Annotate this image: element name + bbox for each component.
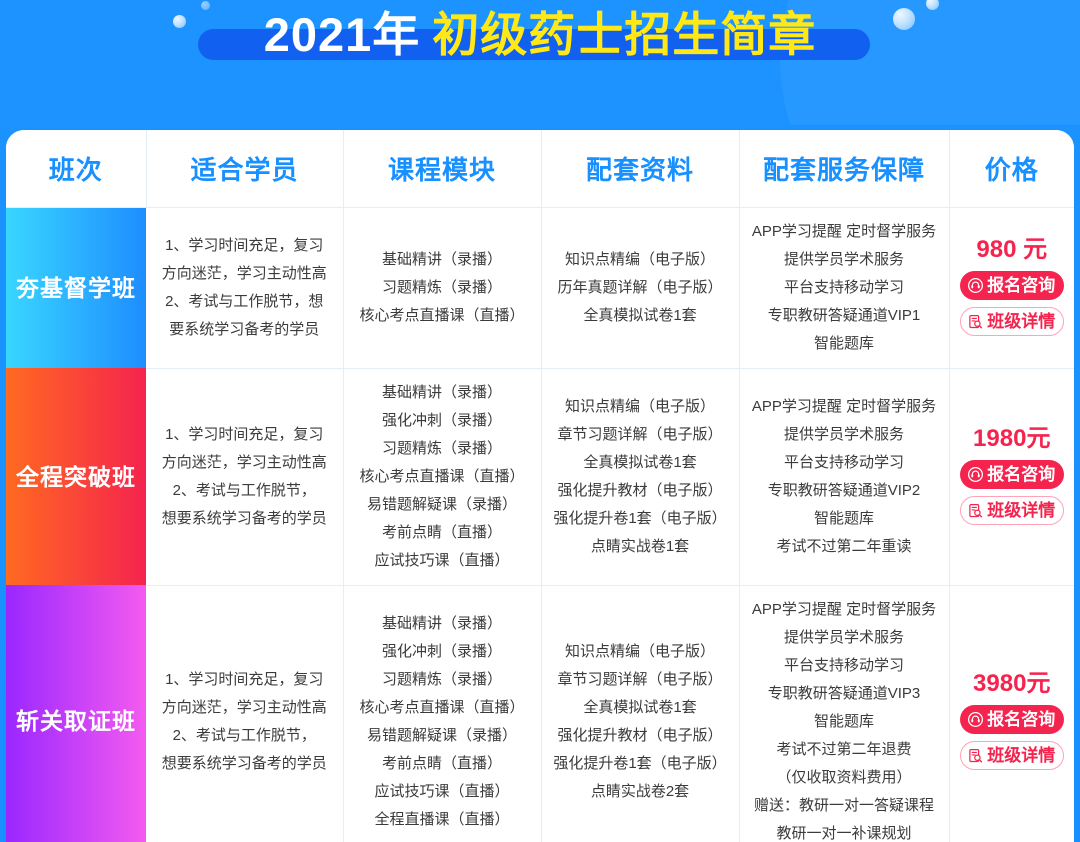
text-line: 习题精炼（录播） xyxy=(350,274,535,302)
title-main: 初级药士招生简章 xyxy=(432,8,816,61)
text-line: 应试技巧课（直播） xyxy=(350,547,535,575)
text-line: 方向迷茫，学习主动性高 xyxy=(152,449,337,477)
text-line: 方向迷茫，学习主动性高 xyxy=(152,694,337,722)
text-line: 平台支持移动学习 xyxy=(746,274,943,302)
price-value: 980 元 xyxy=(954,236,1071,264)
table-row: 夯基督学班 1、学习时间充足，复习 方向迷茫，学习主动性高 2、考试与工作脱节，… xyxy=(6,207,1074,368)
price-cell: 980 元 报名咨询 xyxy=(949,207,1074,368)
column-header-materials: 配套资料 xyxy=(541,130,739,207)
text-line: 历年真题详解（电子版） xyxy=(548,274,733,302)
enroll-button-label: 报名咨询 xyxy=(987,461,1055,489)
enroll-button-label: 报名咨询 xyxy=(987,272,1055,300)
text-line: APP学习提醒 定时督学服务 xyxy=(746,393,943,421)
students-cell: 1、学习时间充足，复习 方向迷茫，学习主动性高 2、考试与工作脱节，想 要系统学… xyxy=(146,207,343,368)
modules-cell: 基础精讲（录播） 强化冲刺（录播） 习题精炼（录播） 核心考点直播课（直播） 易… xyxy=(343,368,541,585)
class-name-cell: 全程突破班 xyxy=(6,368,146,585)
text-line: 要系统学习备考的学员 xyxy=(152,316,337,344)
students-cell: 1、学习时间充足，复习 方向迷茫，学习主动性高 2、考试与工作脱节， 想要系统学… xyxy=(146,368,343,585)
enroll-button[interactable]: 报名咨询 xyxy=(960,705,1064,734)
text-line: 应试技巧课（直播） xyxy=(350,778,535,806)
text-line: 知识点精编（电子版） xyxy=(548,246,733,274)
column-header-price: 价格 xyxy=(949,130,1074,207)
text-line: 考试不过第二年重读 xyxy=(746,533,943,561)
text-line: 核心考点直播课（直播） xyxy=(350,694,535,722)
text-line: 智能题库 xyxy=(746,505,943,533)
price-value: 3980元 xyxy=(954,670,1071,698)
text-line: 全真模拟试卷1套 xyxy=(548,449,733,477)
text-line: 点睛实战卷2套 xyxy=(548,778,733,806)
text-line: 强化提升卷1套（电子版） xyxy=(548,750,733,778)
text-line: 章节习题详解（电子版） xyxy=(548,666,733,694)
text-line: 知识点精编（电子版） xyxy=(548,638,733,666)
materials-cell: 知识点精编（电子版） 章节习题详解（电子版） 全真模拟试卷1套 强化提升教材（电… xyxy=(541,585,739,842)
enroll-button[interactable]: 报名咨询 xyxy=(960,460,1064,489)
text-line: 提供学员学术服务 xyxy=(746,421,943,449)
document-search-icon xyxy=(968,314,983,329)
column-header-modules: 课程模块 xyxy=(343,130,541,207)
text-line: 专职教研答疑通道VIP3 xyxy=(746,680,943,708)
text-line: 1、学习时间充足，复习 xyxy=(152,232,337,260)
services-cell: APP学习提醒 定时督学服务 提供学员学术服务 平台支持移动学习 专职教研答疑通… xyxy=(739,207,949,368)
column-header-students: 适合学员 xyxy=(146,130,343,207)
materials-cell: 知识点精编（电子版） 章节习题详解（电子版） 全真模拟试卷1套 强化提升教材（电… xyxy=(541,368,739,585)
text-line: 2、考试与工作脱节，想 xyxy=(152,288,337,316)
text-line: 智能题库 xyxy=(746,708,943,736)
table-header: 班次 适合学员 课程模块 配套资料 配套服务保障 价格 xyxy=(6,130,1074,207)
page-title: 2021年初级药士招生简章 xyxy=(0,4,1080,66)
text-line: 提供学员学术服务 xyxy=(746,624,943,652)
text-line: （仅收取资料费用） xyxy=(746,764,943,792)
text-line: 考前点睛（直播） xyxy=(350,519,535,547)
text-line: 想要系统学习备考的学员 xyxy=(152,750,337,778)
class-name-cell: 斩关取证班 xyxy=(6,585,146,842)
column-header-class: 班次 xyxy=(6,130,146,207)
document-search-icon xyxy=(968,748,983,763)
text-line: 赠送：教研一对一答疑课程 xyxy=(746,792,943,820)
materials-cell: 知识点精编（电子版） 历年真题详解（电子版） 全真模拟试卷1套 xyxy=(541,207,739,368)
course-plan-table: 班次 适合学员 课程模块 配套资料 配套服务保障 价格 夯基督学班 1、学习时间… xyxy=(6,130,1074,842)
text-line: 基础精讲（录播） xyxy=(350,246,535,274)
class-detail-button[interactable]: 班级详情 xyxy=(960,741,1064,770)
enroll-button[interactable]: 报名咨询 xyxy=(960,271,1064,300)
students-cell: 1、学习时间充足，复习 方向迷茫，学习主动性高 2、考试与工作脱节， 想要系统学… xyxy=(146,585,343,842)
text-line: 专职教研答疑通道VIP1 xyxy=(746,302,943,330)
text-line: 平台支持移动学习 xyxy=(746,652,943,680)
text-line: 易错题解疑课（录播） xyxy=(350,722,535,750)
table-header-row: 班次 适合学员 课程模块 配套资料 配套服务保障 价格 xyxy=(6,130,1074,207)
text-line: 全真模拟试卷1套 xyxy=(548,302,733,330)
services-cell: APP学习提醒 定时督学服务 提供学员学术服务 平台支持移动学习 专职教研答疑通… xyxy=(739,368,949,585)
headset-icon xyxy=(968,467,983,482)
text-line: 基础精讲（录播） xyxy=(350,610,535,638)
text-line: 强化提升卷1套（电子版） xyxy=(548,505,733,533)
text-line: 强化提升教材（电子版） xyxy=(548,722,733,750)
banner: 2021年初级药士招生简章 xyxy=(0,0,1080,125)
text-line: 点睛实战卷1套 xyxy=(548,533,733,561)
text-line: APP学习提醒 定时督学服务 xyxy=(746,218,943,246)
headset-icon xyxy=(968,278,983,293)
services-cell: APP学习提醒 定时督学服务 提供学员学术服务 平台支持移动学习 专职教研答疑通… xyxy=(739,585,949,842)
document-search-icon xyxy=(968,503,983,518)
price-cell: 1980元 报名咨询 xyxy=(949,368,1074,585)
text-line: 想要系统学习备考的学员 xyxy=(152,505,337,533)
text-line: 章节习题详解（电子版） xyxy=(548,421,733,449)
title-year: 2021年 xyxy=(264,8,421,61)
price-value: 1980元 xyxy=(954,425,1071,453)
text-line: 平台支持移动学习 xyxy=(746,449,943,477)
table-body: 夯基督学班 1、学习时间充足，复习 方向迷茫，学习主动性高 2、考试与工作脱节，… xyxy=(6,207,1074,842)
text-line: 1、学习时间充足，复习 xyxy=(152,666,337,694)
text-line: 核心考点直播课（直播） xyxy=(350,463,535,491)
text-line: APP学习提醒 定时督学服务 xyxy=(746,596,943,624)
text-line: 强化提升教材（电子版） xyxy=(548,477,733,505)
enroll-button-label: 报名咨询 xyxy=(987,706,1055,734)
text-line: 考试不过第二年退费 xyxy=(746,736,943,764)
text-line: 全程直播课（直播） xyxy=(350,806,535,834)
text-line: 考前点睛（直播） xyxy=(350,750,535,778)
text-line: 习题精炼（录播） xyxy=(350,435,535,463)
text-line: 易错题解疑课（录播） xyxy=(350,491,535,519)
class-detail-button[interactable]: 班级详情 xyxy=(960,307,1064,336)
text-line: 智能题库 xyxy=(746,330,943,358)
text-line: 强化冲刺（录播） xyxy=(350,638,535,666)
price-cell: 3980元 报名咨询 xyxy=(949,585,1074,842)
text-line: 核心考点直播课（直播） xyxy=(350,302,535,330)
text-line: 提供学员学术服务 xyxy=(746,246,943,274)
text-line: 基础精讲（录播） xyxy=(350,379,535,407)
text-line: 教研一对一补课规划 xyxy=(746,820,943,842)
class-name-cell: 夯基督学班 xyxy=(6,207,146,368)
text-line: 习题精炼（录播） xyxy=(350,666,535,694)
text-line: 2、考试与工作脱节， xyxy=(152,477,337,505)
modules-cell: 基础精讲（录播） 习题精炼（录播） 核心考点直播课（直播） xyxy=(343,207,541,368)
class-detail-button-label: 班级详情 xyxy=(987,742,1055,770)
text-line: 方向迷茫，学习主动性高 xyxy=(152,260,337,288)
text-line: 全真模拟试卷1套 xyxy=(548,694,733,722)
text-line: 专职教研答疑通道VIP2 xyxy=(746,477,943,505)
class-detail-button-label: 班级详情 xyxy=(987,497,1055,525)
text-line: 知识点精编（电子版） xyxy=(548,393,733,421)
class-detail-button-label: 班级详情 xyxy=(987,308,1055,336)
modules-cell: 基础精讲（录播） 强化冲刺（录播） 习题精炼（录播） 核心考点直播课（直播） 易… xyxy=(343,585,541,842)
table-row: 斩关取证班 1、学习时间充足，复习 方向迷茫，学习主动性高 2、考试与工作脱节，… xyxy=(6,585,1074,842)
text-line: 1、学习时间充足，复习 xyxy=(152,421,337,449)
text-line: 2、考试与工作脱节， xyxy=(152,722,337,750)
text-line: 强化冲刺（录播） xyxy=(350,407,535,435)
table-row: 全程突破班 1、学习时间充足，复习 方向迷茫，学习主动性高 2、考试与工作脱节，… xyxy=(6,368,1074,585)
promo-page: 2021年初级药士招生简章 班次 适合学员 课程模块 配套资料 配套服务保障 价… xyxy=(0,0,1080,842)
headset-icon xyxy=(968,712,983,727)
column-header-services: 配套服务保障 xyxy=(739,130,949,207)
class-detail-button[interactable]: 班级详情 xyxy=(960,496,1064,525)
course-plan-table-wrapper: 班次 适合学员 课程模块 配套资料 配套服务保障 价格 夯基督学班 1、学习时间… xyxy=(6,130,1074,842)
